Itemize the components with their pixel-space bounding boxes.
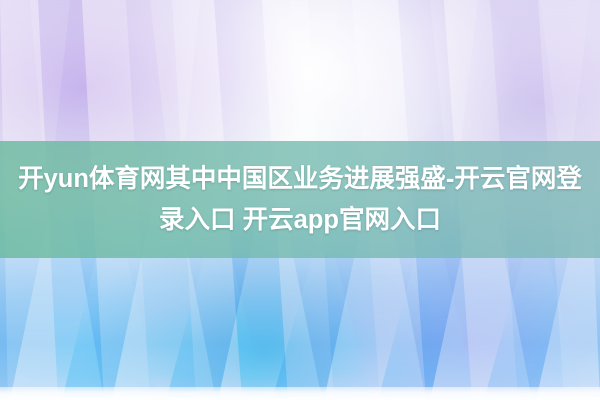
headline-line-1: 开yun体育网其中中国区业务进展强盛-开云官网登: [18, 159, 582, 200]
headline-line-2: 录入口 开云app官网入口: [159, 200, 441, 241]
bottom-white-strip: [0, 387, 600, 400]
banner-image: 开yun体育网其中中国区业务进展强盛-开云官网登 录入口 开云app官网入口: [0, 0, 600, 400]
headline-text: 开yun体育网其中中国区业务进展强盛-开云官网登 录入口 开云app官网入口: [0, 141, 600, 258]
